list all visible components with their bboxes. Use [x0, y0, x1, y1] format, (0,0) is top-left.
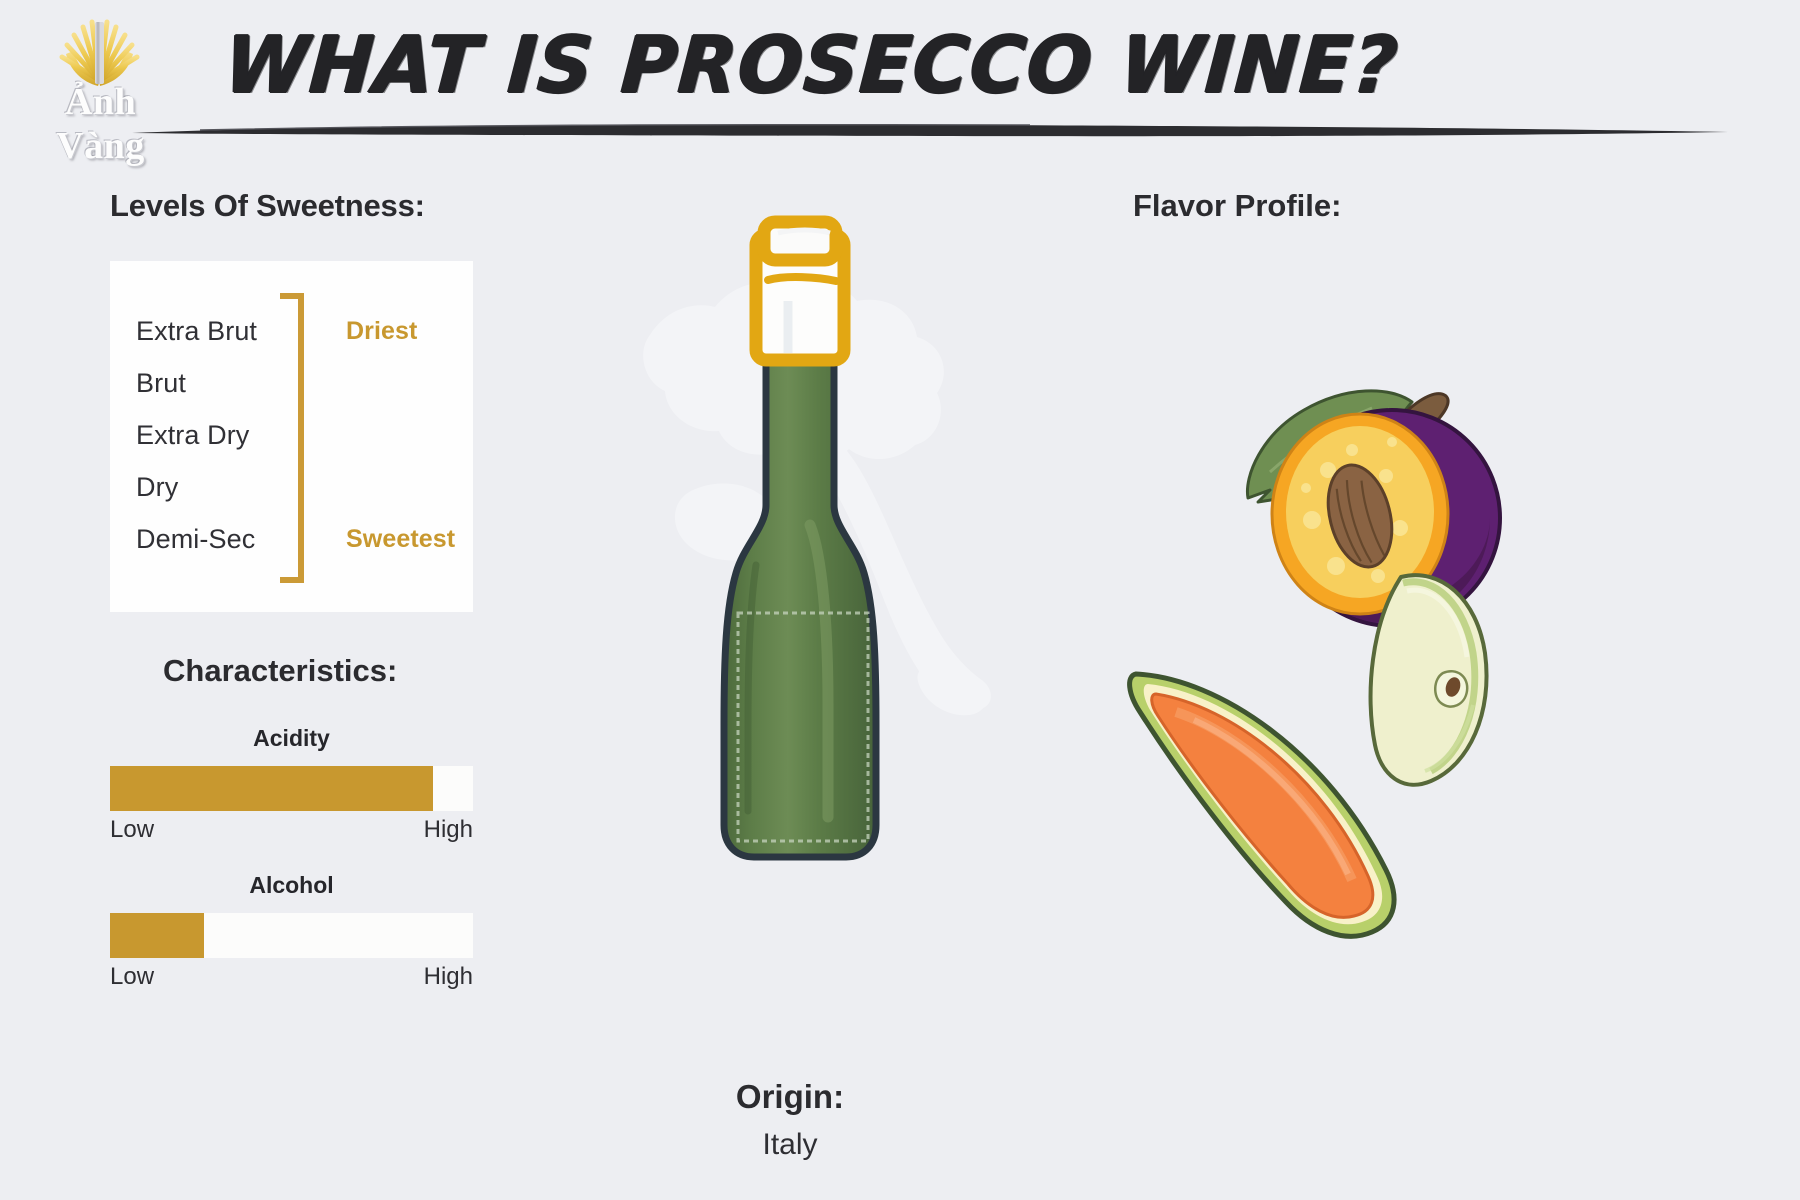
sweetness-tag-sweetest: Sweetest — [346, 525, 455, 554]
sweetness-level-label: Dry — [136, 472, 178, 503]
origin-value: Italy — [600, 1128, 980, 1162]
scale-high-label: High — [424, 963, 473, 991]
bracket-vertical-line — [298, 293, 304, 583]
sweetness-heading: Levels Of Sweetness: — [110, 188, 425, 224]
characteristic-scale: Low High — [110, 963, 473, 991]
characteristic-label: Acidity — [110, 725, 473, 752]
characteristic-track — [110, 913, 473, 958]
sweetness-bracket — [280, 293, 312, 583]
characteristic-label: Alcohol — [110, 872, 473, 899]
origin-label: Origin: — [600, 1078, 980, 1116]
brand-logo: Ảnh Vàng — [18, 8, 178, 133]
characteristic-acidity: Acidity Low High — [110, 725, 473, 844]
gold-fan-sunburst-icon — [40, 10, 160, 88]
characteristics-heading: Characteristics: — [163, 653, 397, 689]
page-title: WHAT IS PROSECCO WINE? — [221, 14, 1315, 119]
scale-high-label: High — [424, 816, 473, 844]
prosecco-bottle-icon — [660, 205, 940, 870]
sweetness-tag-driest: Driest — [346, 317, 417, 346]
sweetness-level-label: Extra Dry — [136, 420, 249, 451]
sweetness-level-label: Demi-Sec — [136, 524, 255, 555]
flavor-profile-heading: Flavor Profile: — [1133, 188, 1341, 224]
header-divider — [130, 122, 1730, 138]
characteristic-scale: Low High — [110, 816, 473, 844]
melon-slice-icon — [1100, 650, 1430, 970]
characteristic-fill — [110, 766, 433, 811]
characteristic-track — [110, 766, 473, 811]
page-header: Ảnh Vàng WHAT IS PROSECCO WINE? — [0, 0, 1800, 150]
characteristic-alcohol: Alcohol Low High — [110, 872, 473, 991]
sweetness-level-label: Extra Brut — [136, 316, 257, 347]
scale-low-label: Low — [110, 963, 154, 991]
sweetness-level-label: Brut — [136, 368, 186, 399]
characteristic-fill — [110, 913, 204, 958]
bracket-bottom-cap — [280, 577, 304, 583]
scale-low-label: Low — [110, 816, 154, 844]
bracket-top-cap — [280, 293, 304, 299]
